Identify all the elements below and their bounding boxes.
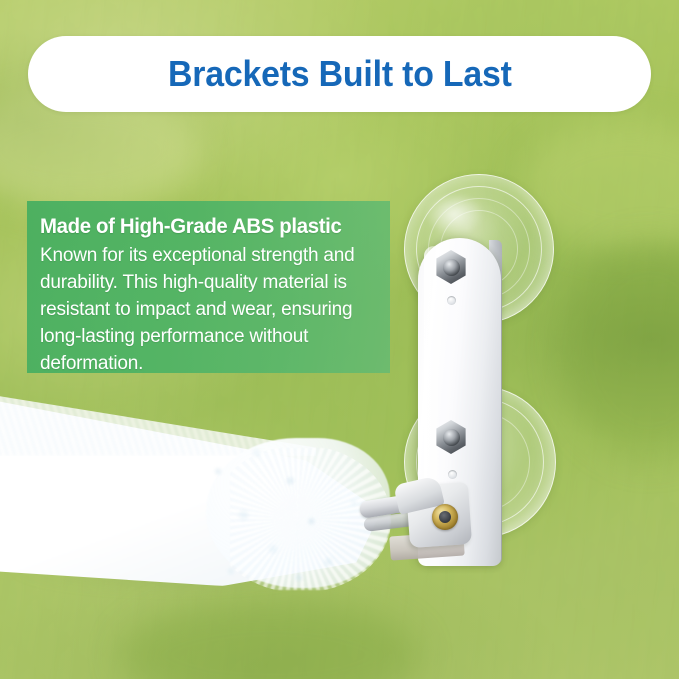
connector-arm [360, 476, 480, 562]
header-banner: Brackets Built to Last [28, 36, 651, 112]
hex-nut-bottom-bolt-head [443, 429, 460, 446]
hex-nut-top-bolt-head [443, 259, 460, 276]
feature-heading: Made of High-Grade ABS plastic [40, 215, 364, 239]
feature-body-text: Known for its exceptional strength and d… [40, 242, 374, 377]
product-marketing-image: Brackets Built to Last Made of High-Grad… [0, 0, 679, 679]
feature-callout-panel: Made of High-Grade ABS plastic Known for… [27, 201, 390, 373]
bracket-dimple-top [447, 296, 456, 305]
mop-head [0, 382, 420, 602]
suction-cup-top-highlight [424, 192, 484, 236]
page-title: Brackets Built to Last [168, 56, 512, 92]
brass-pivot-screw-center [439, 511, 451, 523]
